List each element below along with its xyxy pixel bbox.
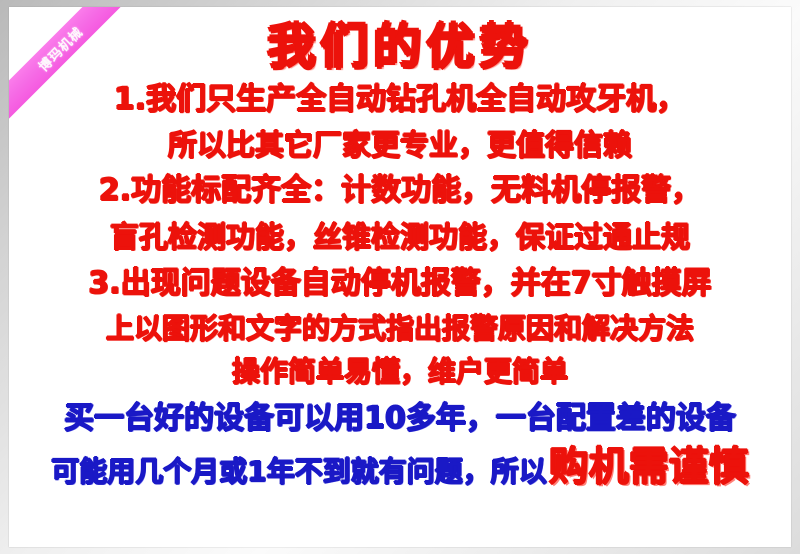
advantage-line-3b: 上以图形和文字的方式指出报警原因和解决方法 xyxy=(9,315,791,343)
advantage-line-1a: 1.我们只生产全自动钻孔机全自动攻牙机， xyxy=(9,85,791,115)
closing-lead-text: 可能用几个月或1年不到就有问题，所以 xyxy=(51,458,547,486)
advantage-line-3a: 3.出现问题设备自动停机报警，并在7寸触摸屏 xyxy=(9,269,791,299)
closing-line-2: 可能用几个月或1年不到就有问题，所以 购机需谨慎 xyxy=(9,448,791,486)
advantage-line-1b: 所以比其它厂家更专业，更值得信赖 xyxy=(9,131,791,160)
closing-line-1: 买一台好的设备可以用10多年，一台配置差的设备 xyxy=(9,404,791,434)
poster-page: 博玛机械 我们的优势 1.我们只生产全自动钻孔机全自动攻牙机， 所以比其它厂家更… xyxy=(9,7,791,547)
poster-canvas: 博玛机械 我们的优势 1.我们只生产全自动钻孔机全自动攻牙机， 所以比其它厂家更… xyxy=(0,0,800,554)
advantage-line-2a: 2.功能标配齐全：计数功能，无料机停报警， xyxy=(9,176,791,206)
advantage-line-2b: 盲孔检测功能，丝锥检测功能，保证过通止规 xyxy=(9,223,791,252)
page-title: 我们的优势 xyxy=(9,23,791,71)
closing-emphasis-text: 购机需谨慎 xyxy=(549,448,749,486)
advantage-line-3c: 操作简单易懂，维户更简单 xyxy=(9,358,791,386)
poster-content: 我们的优势 1.我们只生产全自动钻孔机全自动攻牙机， 所以比其它厂家更专业，更值… xyxy=(9,7,791,486)
